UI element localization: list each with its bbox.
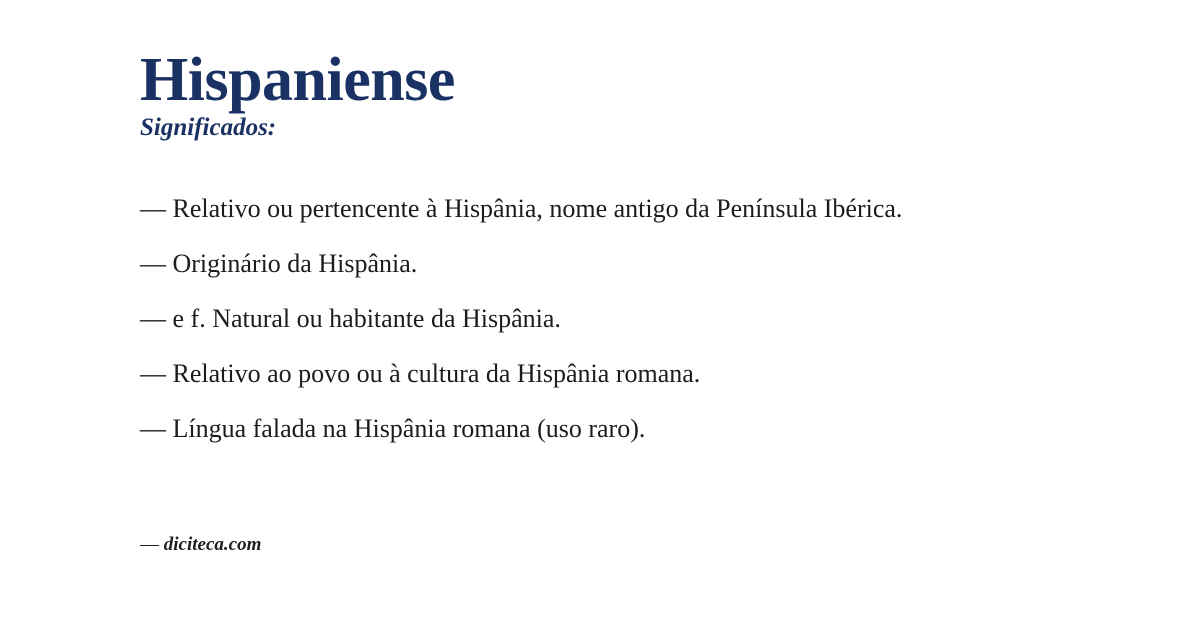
definition-list: — Relativo ou pertencente à Hispânia, no… — [140, 192, 1070, 446]
definition-text: Originário da Hispânia. — [173, 249, 418, 278]
list-item: — Originário da Hispânia. — [140, 247, 1070, 281]
meanings-label: Significados: — [140, 114, 1100, 143]
list-item: — e f. Natural ou habitante da Hispânia. — [140, 302, 1070, 336]
em-dash-marker: — — [140, 414, 166, 443]
dictionary-entry-card: Hispaniense Significados: — Relativo ou … — [0, 0, 1200, 628]
source-attribution: — diciteca.com — [140, 534, 261, 557]
entry-header: Hispaniense Significados: — [140, 48, 1100, 143]
dash-marker: — — [140, 534, 159, 555]
em-dash-marker: — — [140, 194, 166, 223]
list-item: — Relativo ou pertencente à Hispânia, no… — [140, 192, 1070, 226]
definition-text: Relativo ao povo ou à cultura da Hispâni… — [173, 359, 701, 388]
list-item: — Língua falada na Hispânia romana (uso … — [140, 412, 1070, 446]
list-item: — Relativo ao povo ou à cultura da Hispâ… — [140, 357, 1070, 391]
em-dash-marker: — — [140, 304, 166, 333]
em-dash-marker: — — [140, 359, 166, 388]
definition-text: Relativo ou pertencente à Hispânia, nome… — [173, 194, 903, 223]
page-title: Hispaniense — [140, 48, 1100, 112]
source-name: diciteca.com — [164, 534, 262, 555]
em-dash-marker: — — [140, 249, 166, 278]
definition-text: e f. Natural ou habitante da Hispânia. — [173, 304, 561, 333]
definition-text: Língua falada na Hispânia romana (uso ra… — [173, 414, 646, 443]
